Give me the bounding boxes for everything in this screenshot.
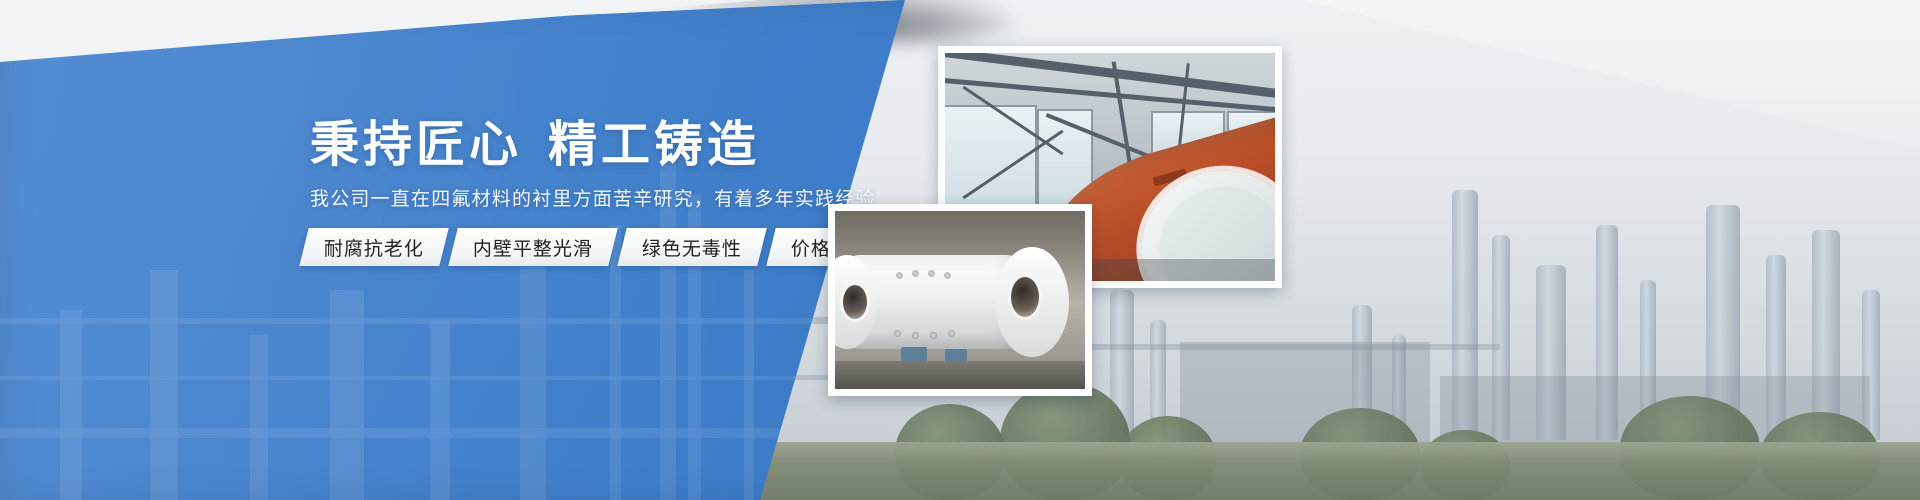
tank-bolt — [913, 271, 918, 276]
tank-bolt — [949, 331, 954, 336]
hero-banner: 秉持匠心精工铸造 我公司一直在四氟材料的衬里方面苦辛研究，有着多年实践经验 耐腐… — [0, 0, 1920, 500]
tank-bolt — [945, 273, 950, 278]
feature-tag-label: 耐腐抗老化 — [324, 234, 424, 261]
factory-window — [945, 105, 1037, 219]
tank-bolt — [895, 331, 900, 336]
banner-title-part2: 精工铸造 — [548, 116, 760, 173]
feature-tag-anti-corrosion[interactable]: 耐腐抗老化 — [299, 228, 448, 266]
tank-bolt — [931, 333, 936, 338]
tank-bolt — [929, 271, 934, 276]
tank-outlet-nozzle — [1011, 277, 1039, 317]
tank-bolt — [897, 273, 902, 278]
feature-tag-label: 绿色无毒性 — [642, 234, 742, 261]
feature-tag-label: 内壁平整光滑 — [473, 234, 593, 261]
feature-tag-non-toxic[interactable]: 绿色无毒性 — [617, 228, 766, 266]
banner-title: 秉持匠心精工铸造 — [310, 120, 760, 169]
shop-floor — [835, 361, 1085, 389]
banner-title-part1: 秉持匠心 — [310, 116, 522, 173]
banner-subtitle: 我公司一直在四氟材料的衬里方面苦辛研究，有着多年实践经验 — [310, 186, 876, 213]
product-photo-white-tank[interactable] — [828, 204, 1092, 396]
tank-bolt — [913, 333, 918, 338]
feature-tag-smooth-inner-wall[interactable]: 内壁平整光滑 — [448, 228, 617, 266]
product-photo-white-tank-image — [835, 211, 1085, 389]
tank-manhole-nozzle — [843, 285, 867, 319]
banner-content: 秉持匠心精工铸造 我公司一直在四氟材料的衬里方面苦辛研究，有着多年实践经验 耐腐… — [0, 0, 905, 500]
feature-tag-list: 耐腐抗老化 内壁平整光滑 绿色无毒性 价格低廉 — [304, 228, 900, 266]
